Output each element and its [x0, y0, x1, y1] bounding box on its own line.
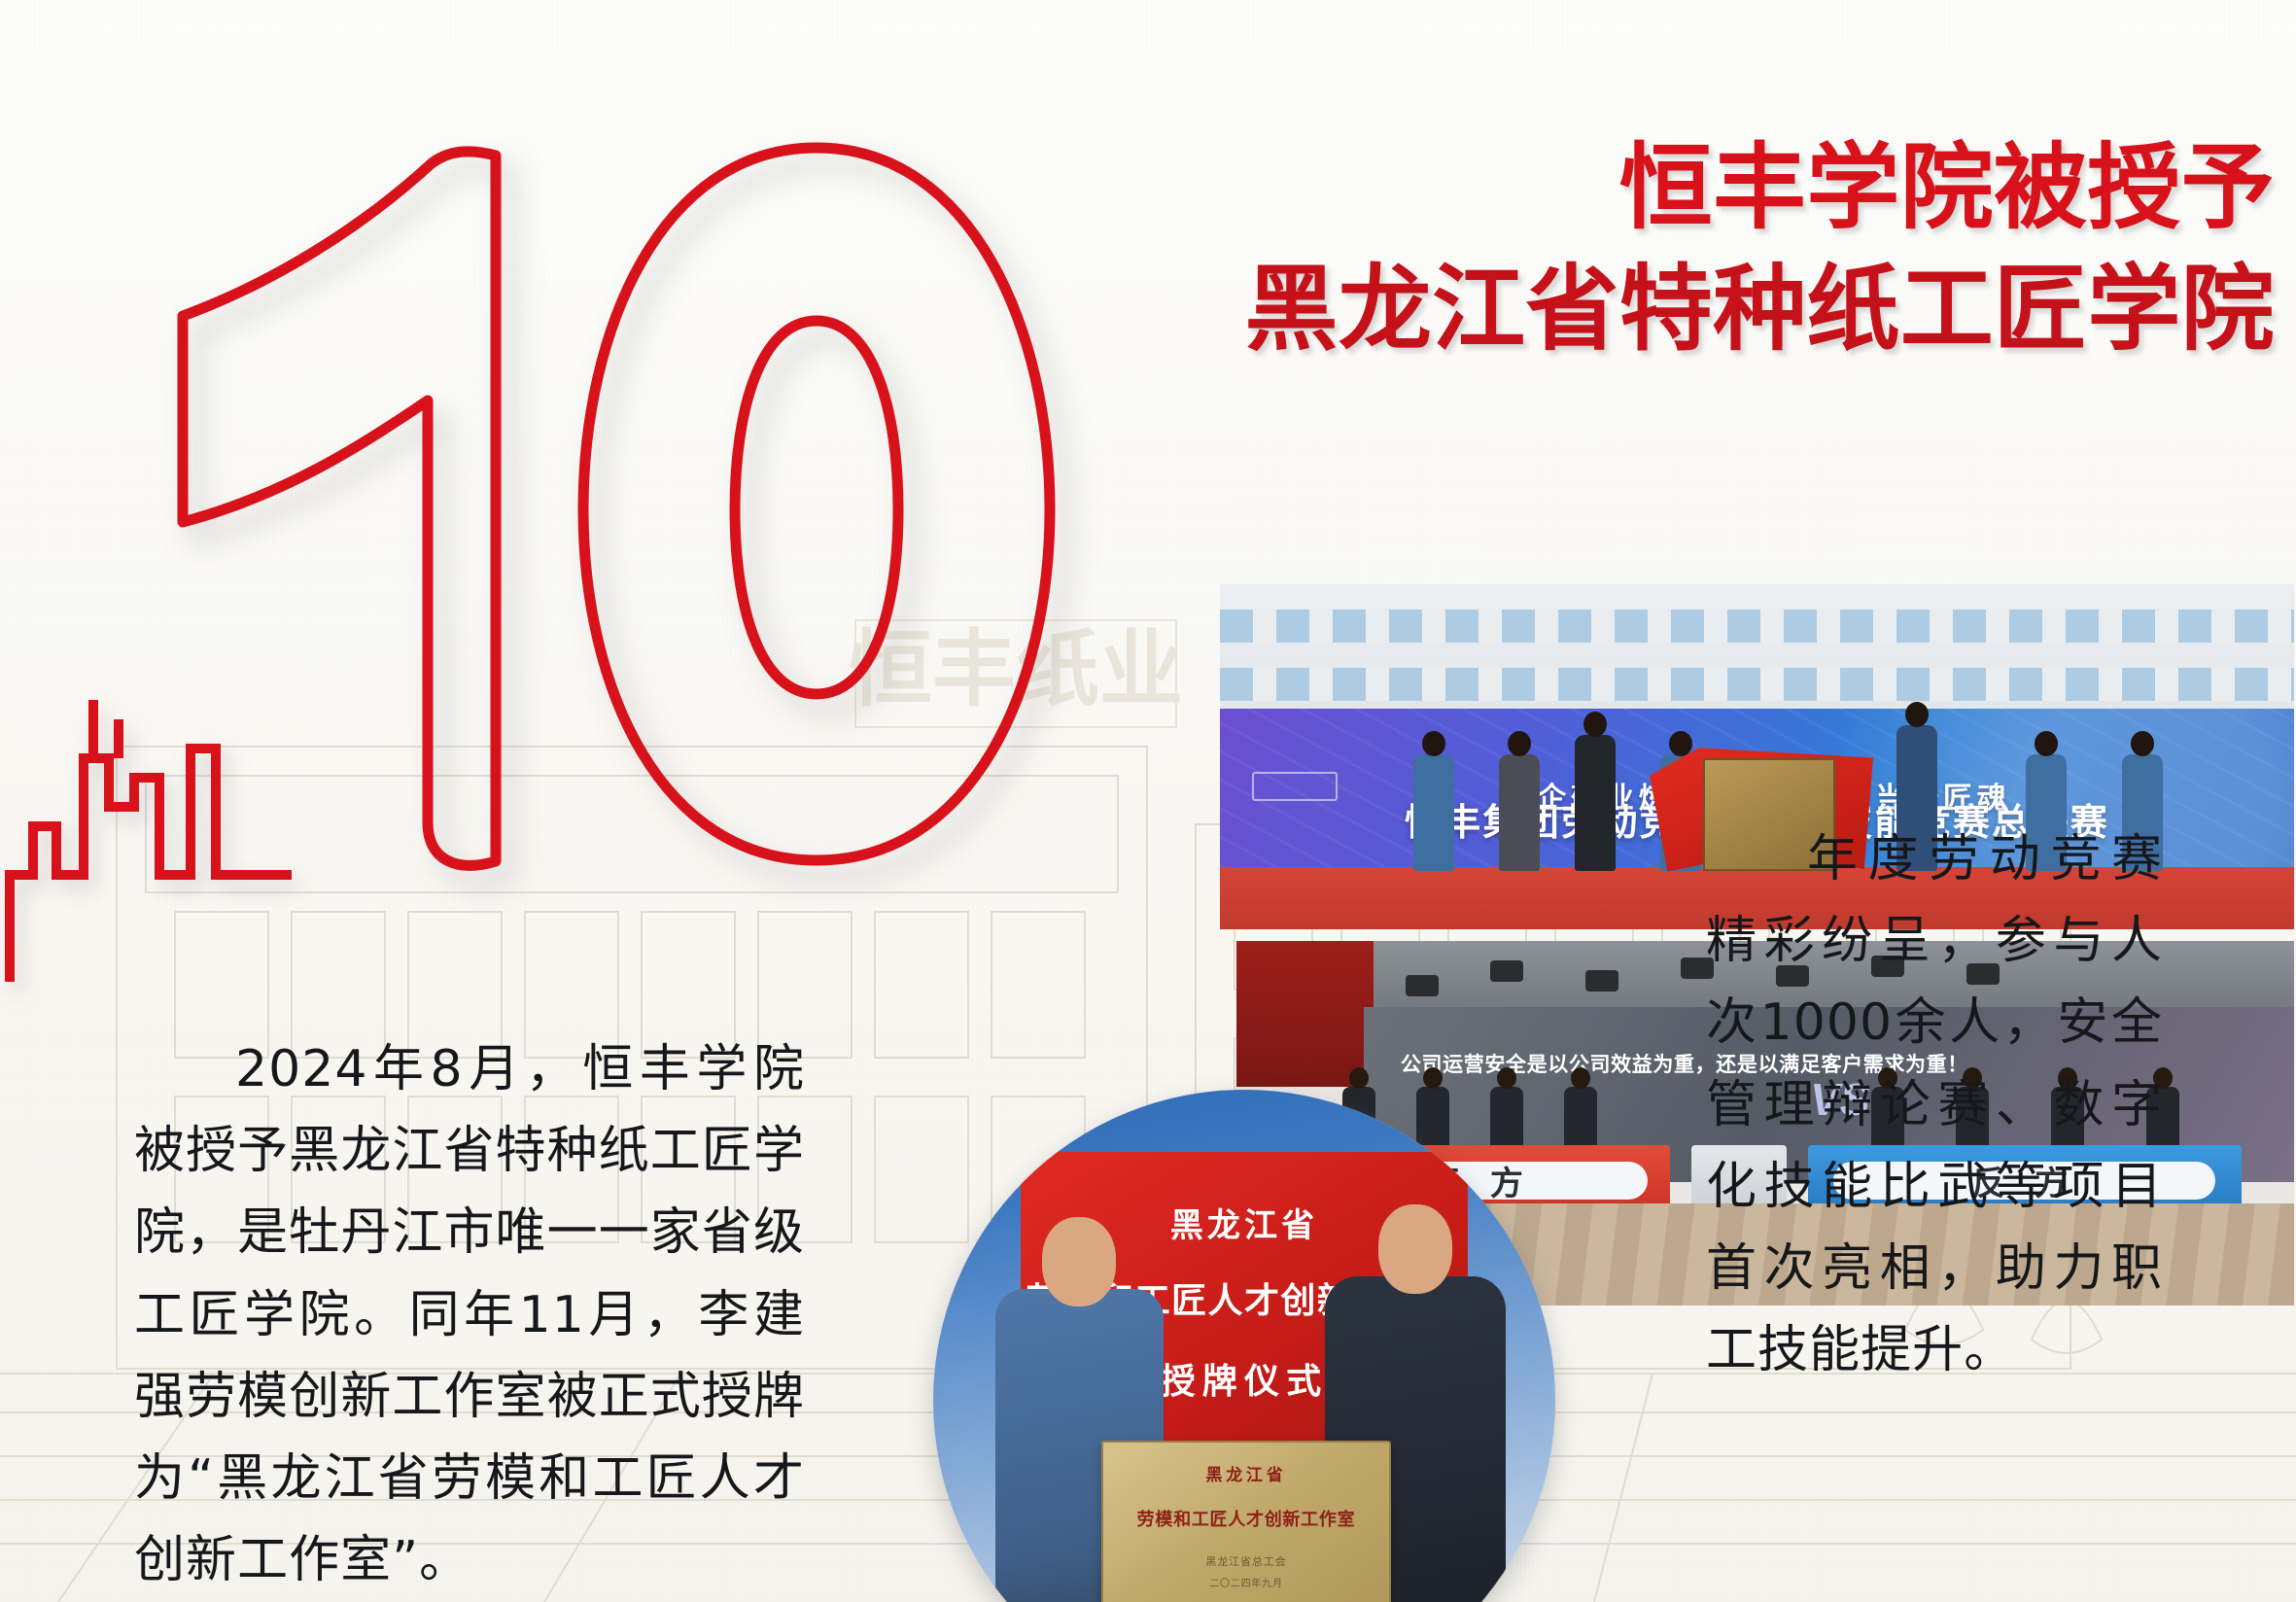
headline-line-1: 恒丰学院被授予 [1011, 127, 2275, 249]
ceremony-attendee [1499, 754, 1540, 871]
hengfeng-logo-icon [1252, 772, 1338, 801]
plaque-text-line-1: 黑龙江省 [1103, 1461, 1389, 1485]
plaque-text-line-2: 劳模和工匠人才创新工作室 [1103, 1506, 1389, 1531]
plaque-board: 黑龙江省 劳模和工匠人才创新工作室 黑龙江省总工会 二〇二四年九月 [1101, 1441, 1391, 1602]
plaque-issuer: 黑龙江省总工会 [1103, 1553, 1389, 1569]
body-paragraph-right: 年度劳动竞赛精彩纷呈，参与人次1000余人，安全管理辩论赛、数字化技能比武等项目… [1706, 818, 2163, 1392]
headline-line-2: 黑龙江省特种纸工匠学院 [1011, 249, 2275, 370]
body-paragraph-left: 2024年8月，恒丰学院被授予黑龙江省特种纸工匠学院，是牡丹江市唯一一家省级工匠… [134, 1028, 805, 1602]
poster-page: 恒丰纸业 10 恒丰学院被授予 黑龙江省特种纸工匠学院 [0, 0, 2296, 1602]
ceremony-attendee [1413, 754, 1454, 871]
ceremony-host [1575, 735, 1616, 871]
plaque-date: 二〇二四年九月 [1103, 1575, 1389, 1589]
ceremony-building [1220, 584, 2294, 709]
photo-plaque-ceremony[interactable]: 黑龙江省 劳模和工匠人才创新工作室 授牌仪式 黑龙江省 劳模和工匠人才创新工作室… [933, 1090, 1555, 1602]
factory-skyline-icon [0, 583, 418, 992]
debate-curtain [1236, 941, 1374, 1087]
page-title: 恒丰学院被授予 黑龙江省特种纸工匠学院 [1011, 127, 2275, 370]
